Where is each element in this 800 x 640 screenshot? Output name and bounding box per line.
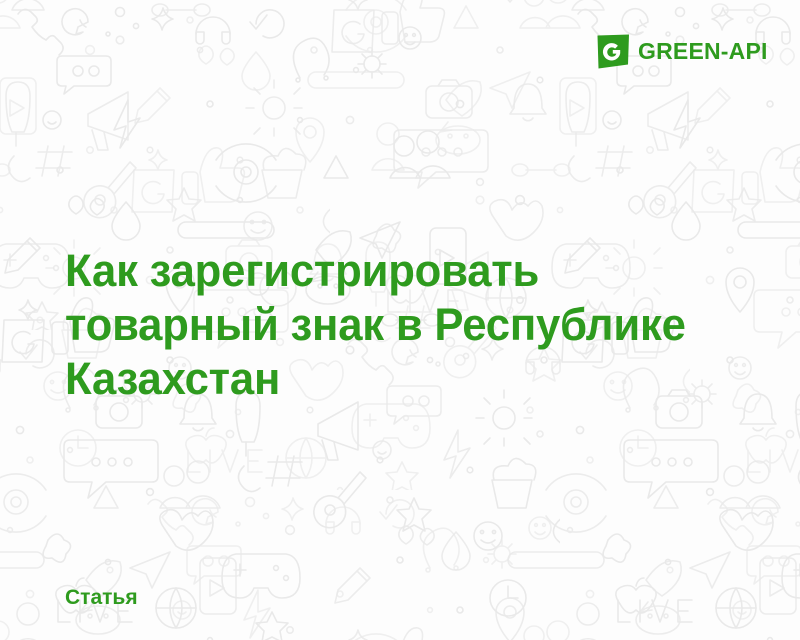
- page-title: Как зарегистрировать товарный знак в Рес…: [65, 244, 734, 406]
- page-title-line-2: товарный знак в Республике: [65, 298, 734, 352]
- page-title-line-1: Как зарегистрировать: [65, 244, 734, 298]
- green-api-logo-text: GREEN-API: [638, 40, 768, 63]
- content-type-label: Статья: [65, 586, 138, 610]
- page-title-line-3: Казахстан: [65, 352, 734, 406]
- green-api-logo-mark-icon: [596, 34, 630, 69]
- article-cover: GREEN-API Как зарегистрировать товарный …: [0, 0, 800, 640]
- green-api-logo[interactable]: GREEN-API: [596, 34, 768, 69]
